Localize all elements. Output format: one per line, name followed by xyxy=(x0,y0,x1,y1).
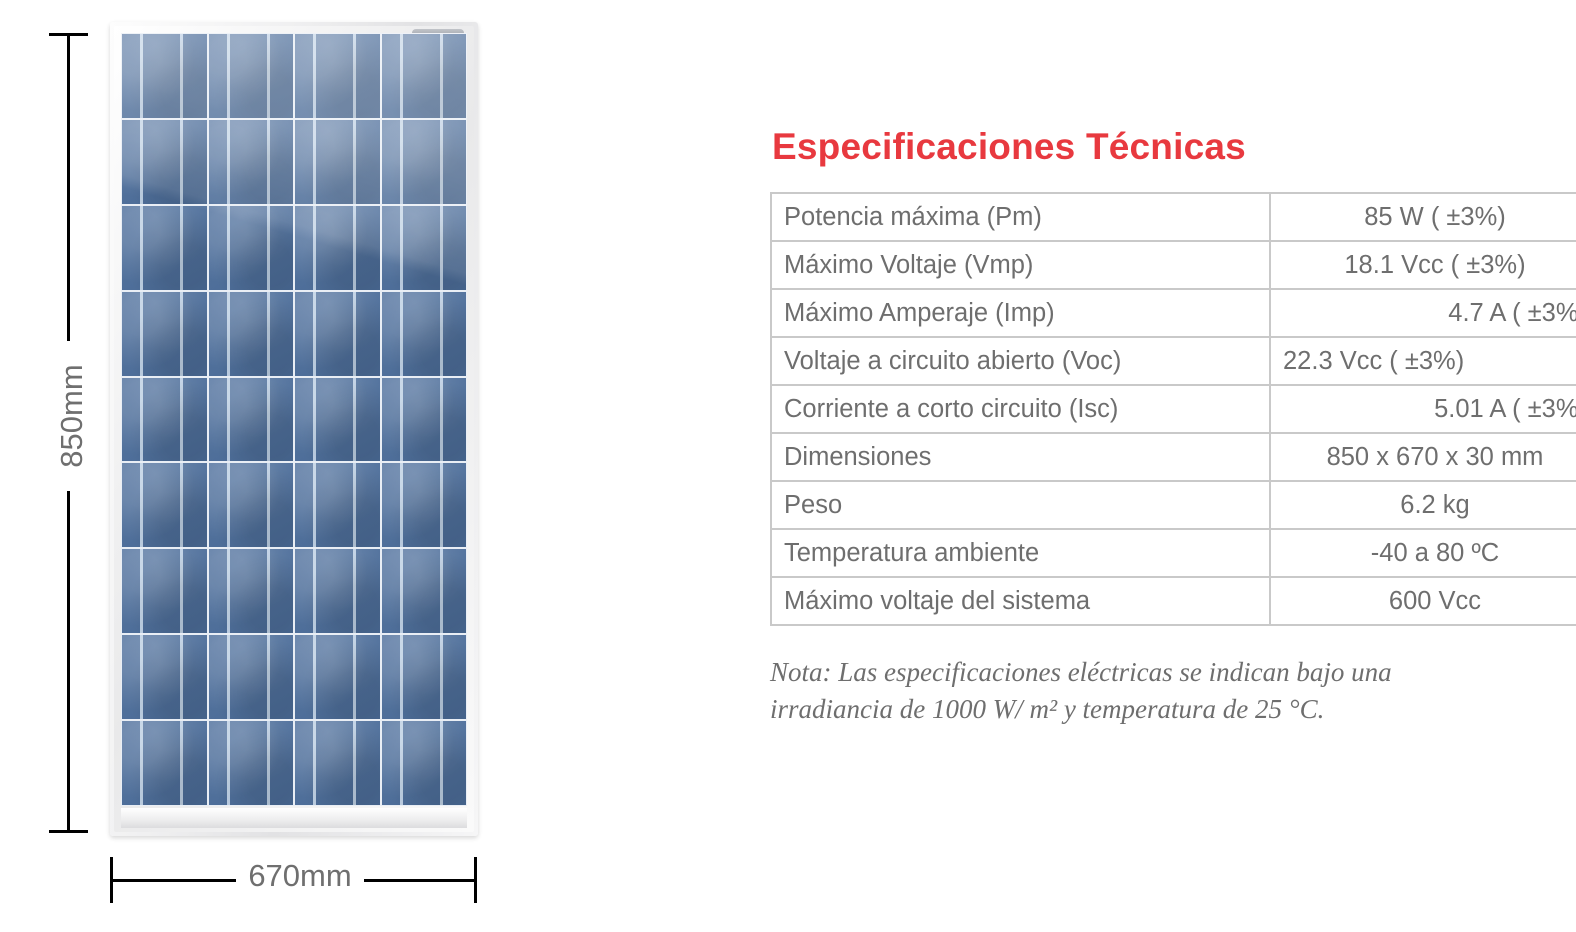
solar-cell xyxy=(382,34,467,118)
solar-cell xyxy=(209,34,294,118)
solar-cell xyxy=(122,635,207,719)
height-dimension-cap-bottom xyxy=(49,830,88,833)
width-dimension-label: 670mm xyxy=(236,858,364,894)
solar-cell xyxy=(295,34,380,118)
solar-cell xyxy=(382,120,467,204)
solar-cell-grid xyxy=(121,33,467,806)
spec-value: 22.3 Vcc ( ±3%) xyxy=(1270,337,1576,385)
solar-cell xyxy=(382,549,467,633)
solar-cell xyxy=(382,635,467,719)
spec-label: Peso xyxy=(771,481,1270,529)
specifications-table: Potencia máxima (Pm) 85 W ( ±3%) Máximo … xyxy=(770,192,1576,626)
solar-cell xyxy=(122,292,207,376)
spec-label: Máximo Voltaje (Vmp) xyxy=(771,241,1270,289)
solar-cell xyxy=(209,463,294,547)
spec-value: 6.2 kg xyxy=(1270,481,1576,529)
solar-cell xyxy=(122,721,207,805)
solar-cell xyxy=(382,206,467,290)
table-row: Temperatura ambiente -40 a 80 ºC xyxy=(771,529,1576,577)
solar-cell xyxy=(209,721,294,805)
spec-label: Voltaje a circuito abierto (Voc) xyxy=(771,337,1270,385)
spec-value: 4.7 A ( ±3%) xyxy=(1270,289,1576,337)
table-row: Máximo Amperaje (Imp) 4.7 A ( ±3%) xyxy=(771,289,1576,337)
solar-cell xyxy=(209,635,294,719)
solar-cell xyxy=(295,206,380,290)
spec-value: 5.01 A ( ±3%) xyxy=(1270,385,1576,433)
panel-bottom-rail xyxy=(121,808,467,828)
solar-cell xyxy=(209,120,294,204)
solar-cell xyxy=(382,463,467,547)
table-row: Dimensiones 850 x 670 x 30 mm xyxy=(771,433,1576,481)
spec-label: Máximo Amperaje (Imp) xyxy=(771,289,1270,337)
width-dimension-cap-right xyxy=(474,857,477,903)
solar-cell xyxy=(295,721,380,805)
solar-cell xyxy=(122,463,207,547)
solar-cell xyxy=(295,292,380,376)
width-dimension-line-left xyxy=(110,879,236,882)
solar-cell xyxy=(382,378,467,462)
solar-cell xyxy=(122,34,207,118)
table-row: Máximo voltaje del sistema 600 Vcc xyxy=(771,577,1576,625)
specifications-panel: Especificaciones Técnicas Potencia máxim… xyxy=(770,126,1550,756)
spec-label: Temperatura ambiente xyxy=(771,529,1270,577)
solar-cell xyxy=(295,463,380,547)
table-row: Voltaje a circuito abierto (Voc) 22.3 Vc… xyxy=(771,337,1576,385)
specifications-table-body: Potencia máxima (Pm) 85 W ( ±3%) Máximo … xyxy=(771,193,1576,625)
solar-cell xyxy=(295,549,380,633)
solar-cell xyxy=(295,635,380,719)
panel-laminate xyxy=(121,33,467,806)
product-figure: 850mm xyxy=(0,0,520,932)
solar-cell xyxy=(122,549,207,633)
solar-cell xyxy=(209,206,294,290)
solar-cell xyxy=(209,292,294,376)
height-dimension-label: 850mm xyxy=(51,341,93,491)
solar-cell xyxy=(209,378,294,462)
table-row: Potencia máxima (Pm) 85 W ( ±3%) xyxy=(771,193,1576,241)
specifications-title: Especificaciones Técnicas xyxy=(772,126,1550,168)
solar-cell xyxy=(382,721,467,805)
spec-label: Potencia máxima (Pm) xyxy=(771,193,1270,241)
spec-label: Corriente a corto circuito (Isc) xyxy=(771,385,1270,433)
width-dimension-line-right xyxy=(364,879,477,882)
spec-value: 850 x 670 x 30 mm xyxy=(1270,433,1576,481)
table-row: Corriente a corto circuito (Isc) 5.01 A … xyxy=(771,385,1576,433)
solar-cell xyxy=(295,378,380,462)
solar-cell xyxy=(122,206,207,290)
solar-cell xyxy=(295,120,380,204)
table-row: Peso 6.2 kg xyxy=(771,481,1576,529)
spec-value: -40 a 80 ºC xyxy=(1270,529,1576,577)
spec-value: 18.1 Vcc ( ±3%) xyxy=(1270,241,1576,289)
solar-panel-image xyxy=(110,22,478,836)
spec-value: 85 W ( ±3%) xyxy=(1270,193,1576,241)
solar-cell xyxy=(209,549,294,633)
solar-cell xyxy=(382,292,467,376)
spec-label: Máximo voltaje del sistema xyxy=(771,577,1270,625)
solar-cell xyxy=(122,120,207,204)
specifications-note: Nota: Las especificaciones eléctricas se… xyxy=(770,654,1506,729)
spec-value: 600 Vcc xyxy=(1270,577,1576,625)
table-row: Máximo Voltaje (Vmp) 18.1 Vcc ( ±3%) xyxy=(771,241,1576,289)
solar-cell xyxy=(122,378,207,462)
spec-label: Dimensiones xyxy=(771,433,1270,481)
